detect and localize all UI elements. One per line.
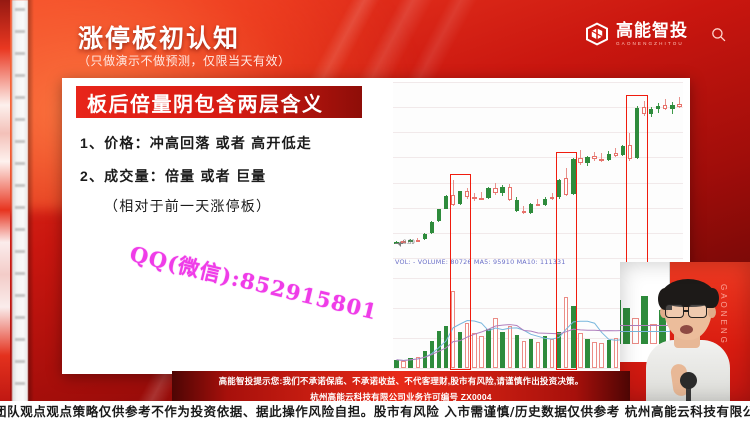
cube-logo-icon: [585, 22, 609, 46]
candle-body: [486, 188, 490, 198]
bullet-1: 1、价格：冲高回落 或者 高开低走: [80, 133, 312, 153]
candle-body: [649, 109, 653, 114]
candlestick: [408, 82, 412, 258]
candlestick: [656, 82, 660, 258]
candlestick: [649, 82, 653, 258]
candlestick: [515, 82, 519, 258]
broadcast-screen: 涨停板初认知 （只做演示不做预测，仅限当天有效） 高能智投 GAONENGZHI…: [0, 0, 750, 422]
brand-name-en: GAONENGZHITOU: [616, 42, 688, 47]
candle-body: [529, 204, 533, 213]
candlestick: [500, 82, 504, 258]
candlestick: [394, 82, 398, 258]
presenter-video: GAONENG: [620, 262, 750, 402]
vertical-ruler: [12, 0, 28, 404]
candle-body: [472, 197, 476, 199]
candlestick: [444, 82, 448, 258]
candlestick: [578, 82, 582, 258]
candlestick: [621, 82, 625, 258]
candlestick: [592, 82, 596, 258]
bullet-3: （相对于前一天涨停板）: [104, 196, 271, 216]
price-marker-label: 8.89: [403, 240, 415, 246]
chart-annotation-box: [556, 152, 577, 370]
brand-name-cn: 高能智投: [616, 22, 688, 39]
candle-body: [670, 105, 674, 110]
bullet-2: 2、成交量：倍量 或者 巨量: [80, 166, 266, 186]
presenter-vignette: [620, 262, 750, 402]
candle-body: [599, 159, 603, 161]
candle-body: [585, 157, 589, 164]
previous-slide-sliver: [0, 0, 10, 404]
candlestick: [508, 82, 512, 258]
candle-body: [578, 158, 582, 163]
chart-annotation-box: [450, 174, 471, 370]
candlestick: [543, 82, 547, 258]
disclaimer-banner: 高能智投提示您:我们不承诺保底、不承诺收益、不代客理财,股市有风险,请谨慎作出投…: [172, 371, 630, 401]
candle-body: [444, 196, 448, 209]
candlestick: [599, 82, 603, 258]
candle-body: [515, 200, 519, 211]
candle-body: [607, 154, 611, 160]
candle-body: [437, 209, 441, 221]
disclaimer-line-1: 高能智投提示您:我们不承诺保底、不承诺收益、不代客理财,股市有风险,请谨慎作出投…: [172, 371, 630, 387]
candlestick: [614, 82, 618, 258]
brand-logo: 高能智投 GAONENGZHITOU: [585, 22, 688, 47]
candle-body: [500, 187, 504, 193]
scrolling-ticker: 团队观点观点策略仅供参考不作为投资依据、据此操作风险自担。股市有风险 入市需谨慎…: [0, 401, 750, 422]
candlestick: [670, 82, 674, 258]
candlestick: [529, 82, 533, 258]
candle-body: [543, 199, 547, 205]
candlestick: [536, 82, 540, 258]
candlestick: [416, 82, 420, 258]
candle-body: [614, 153, 618, 155]
candle-body: [621, 146, 625, 155]
candlestick: [522, 82, 526, 258]
candlestick: [585, 82, 589, 258]
candlestick: [607, 82, 611, 258]
candlestick: [437, 82, 441, 258]
page-subtitle: （只做演示不做预测，仅限当天有效）: [78, 52, 291, 69]
contact-watermark: QQ(微信):852915801: [127, 238, 426, 337]
candle-body: [522, 211, 526, 213]
candle-body: [536, 204, 540, 206]
candle-body: [479, 198, 483, 200]
candlestick: [550, 82, 554, 258]
search-icon[interactable]: [711, 27, 726, 47]
candle-body: [430, 222, 434, 234]
candlestick: [486, 82, 490, 258]
slide-card: 板后倍量阴包含两层含义 1、价格：冲高回落 或者 高开低走 2、成交量：倍量 或…: [62, 78, 690, 374]
candle-body: [423, 234, 427, 240]
candle-body: [656, 106, 660, 109]
panel-shadow: [28, 0, 34, 404]
candlestick: [677, 82, 681, 258]
candle-body: [550, 197, 554, 199]
candle-body: [663, 105, 667, 109]
candlestick: [472, 82, 476, 258]
candle-body: [677, 104, 681, 106]
candlestick: [430, 82, 434, 258]
ticker-text: 团队观点观点策略仅供参考不作为投资依据、据此操作风险自担。股市有风险 入市需谨慎…: [0, 401, 750, 420]
slide-heading: 板后倍量阴包含两层含义: [76, 88, 324, 117]
candle-body: [416, 240, 420, 242]
candlestick: [401, 82, 405, 258]
slide-heading-plate: 板后倍量阴包含两层含义: [76, 86, 362, 118]
candlestick: [479, 82, 483, 258]
page-title: 涨停板初认知: [78, 19, 240, 55]
candlestick: [663, 82, 667, 258]
candlestick: [493, 82, 497, 258]
candle-body: [493, 188, 497, 194]
volume-indicator-text: VOL: - VOLUME: 80726 MA5: 95910 MA10: 11…: [395, 258, 566, 266]
candle-body: [508, 187, 512, 200]
candle-body: [592, 156, 596, 159]
candlestick: [423, 82, 427, 258]
